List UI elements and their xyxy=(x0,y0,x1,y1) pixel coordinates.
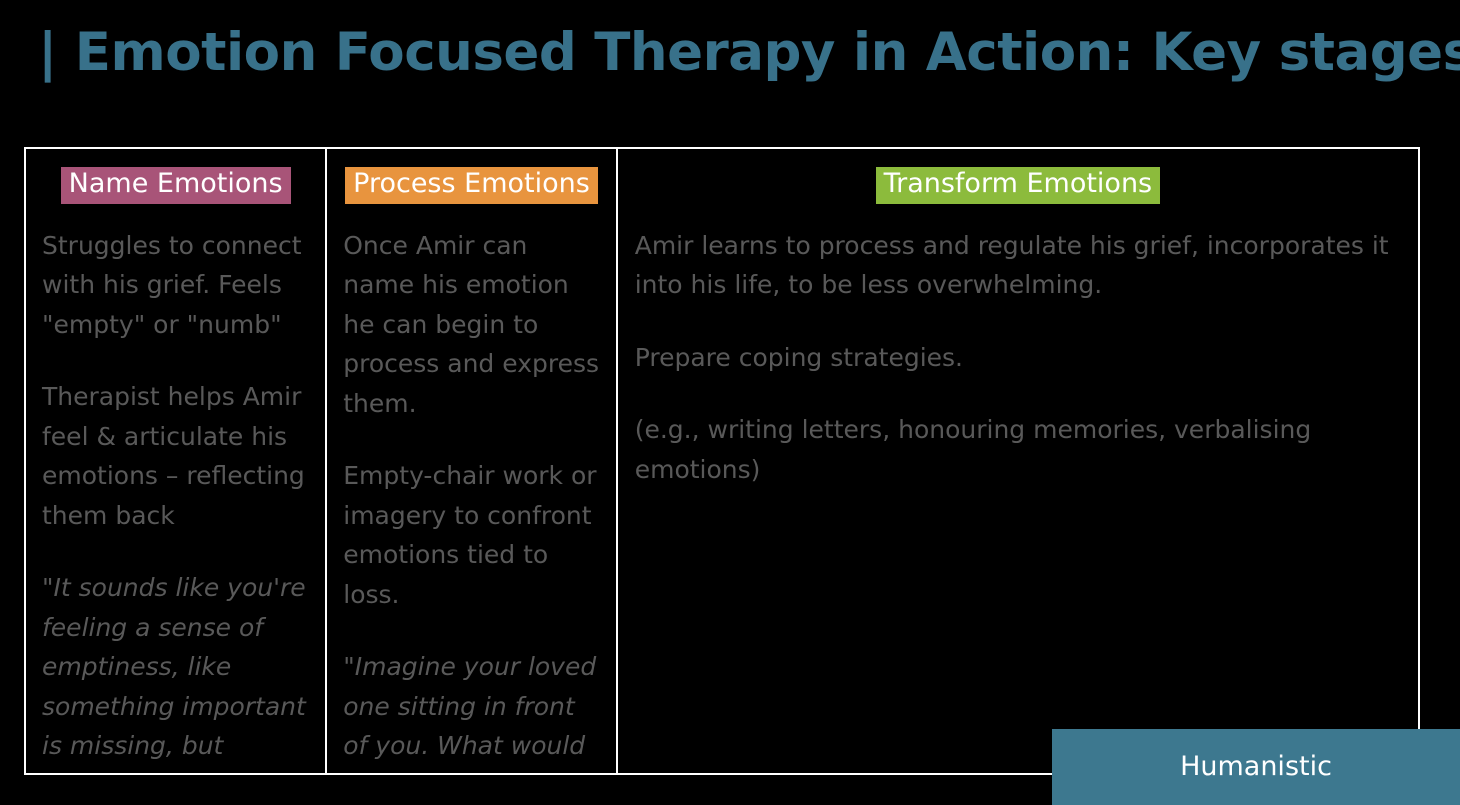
column-header-row: Transform Emotions xyxy=(618,167,1418,204)
stage-column-transform-emotions: Transform Emotions Amir learns to proces… xyxy=(618,149,1418,773)
column-header-badge-name-emotions: Name Emotions xyxy=(61,167,291,204)
stage-column-process-emotions: Process Emotions Once Amir can name his … xyxy=(327,149,617,773)
column-body-process-emotions: Once Amir can name his emotion he can be… xyxy=(327,204,615,773)
key-stages-table: Name Emotions Struggles to connect with … xyxy=(24,147,1420,775)
therapist-quote: "Imagine your loved one sitting in front… xyxy=(343,647,599,773)
paragraph: Once Amir can name his emotion he can be… xyxy=(343,226,599,424)
column-header-badge-process-emotions: Process Emotions xyxy=(345,167,598,204)
column-header-row: Name Emotions xyxy=(26,167,325,204)
stage-column-name-emotions: Name Emotions Struggles to connect with … xyxy=(26,149,327,773)
paragraph: Struggles to connect with his grief. Fee… xyxy=(42,226,309,345)
therapist-quote: "It sounds like you're feeling a sense o… xyxy=(42,568,309,773)
paragraph: Prepare coping strategies. xyxy=(635,338,1402,378)
column-header-row: Process Emotions xyxy=(327,167,615,204)
modality-badge: Humanistic xyxy=(1052,729,1460,805)
slide-title: | Emotion Focused Therapy in Action: Key… xyxy=(38,22,1460,83)
modality-badge-label: Humanistic xyxy=(1180,751,1332,782)
column-body-name-emotions: Struggles to connect with his grief. Fee… xyxy=(26,204,325,773)
paragraph: (e.g., writing letters, honouring memori… xyxy=(635,410,1402,489)
paragraph: Amir learns to process and regulate his … xyxy=(635,226,1402,305)
paragraph: Therapist helps Amir feel & articulate h… xyxy=(42,377,309,535)
column-body-transform-emotions: Amir learns to process and regulate his … xyxy=(618,204,1418,490)
paragraph: Empty-chair work or imagery to confront … xyxy=(343,456,599,614)
column-header-badge-transform-emotions: Transform Emotions xyxy=(876,167,1161,204)
